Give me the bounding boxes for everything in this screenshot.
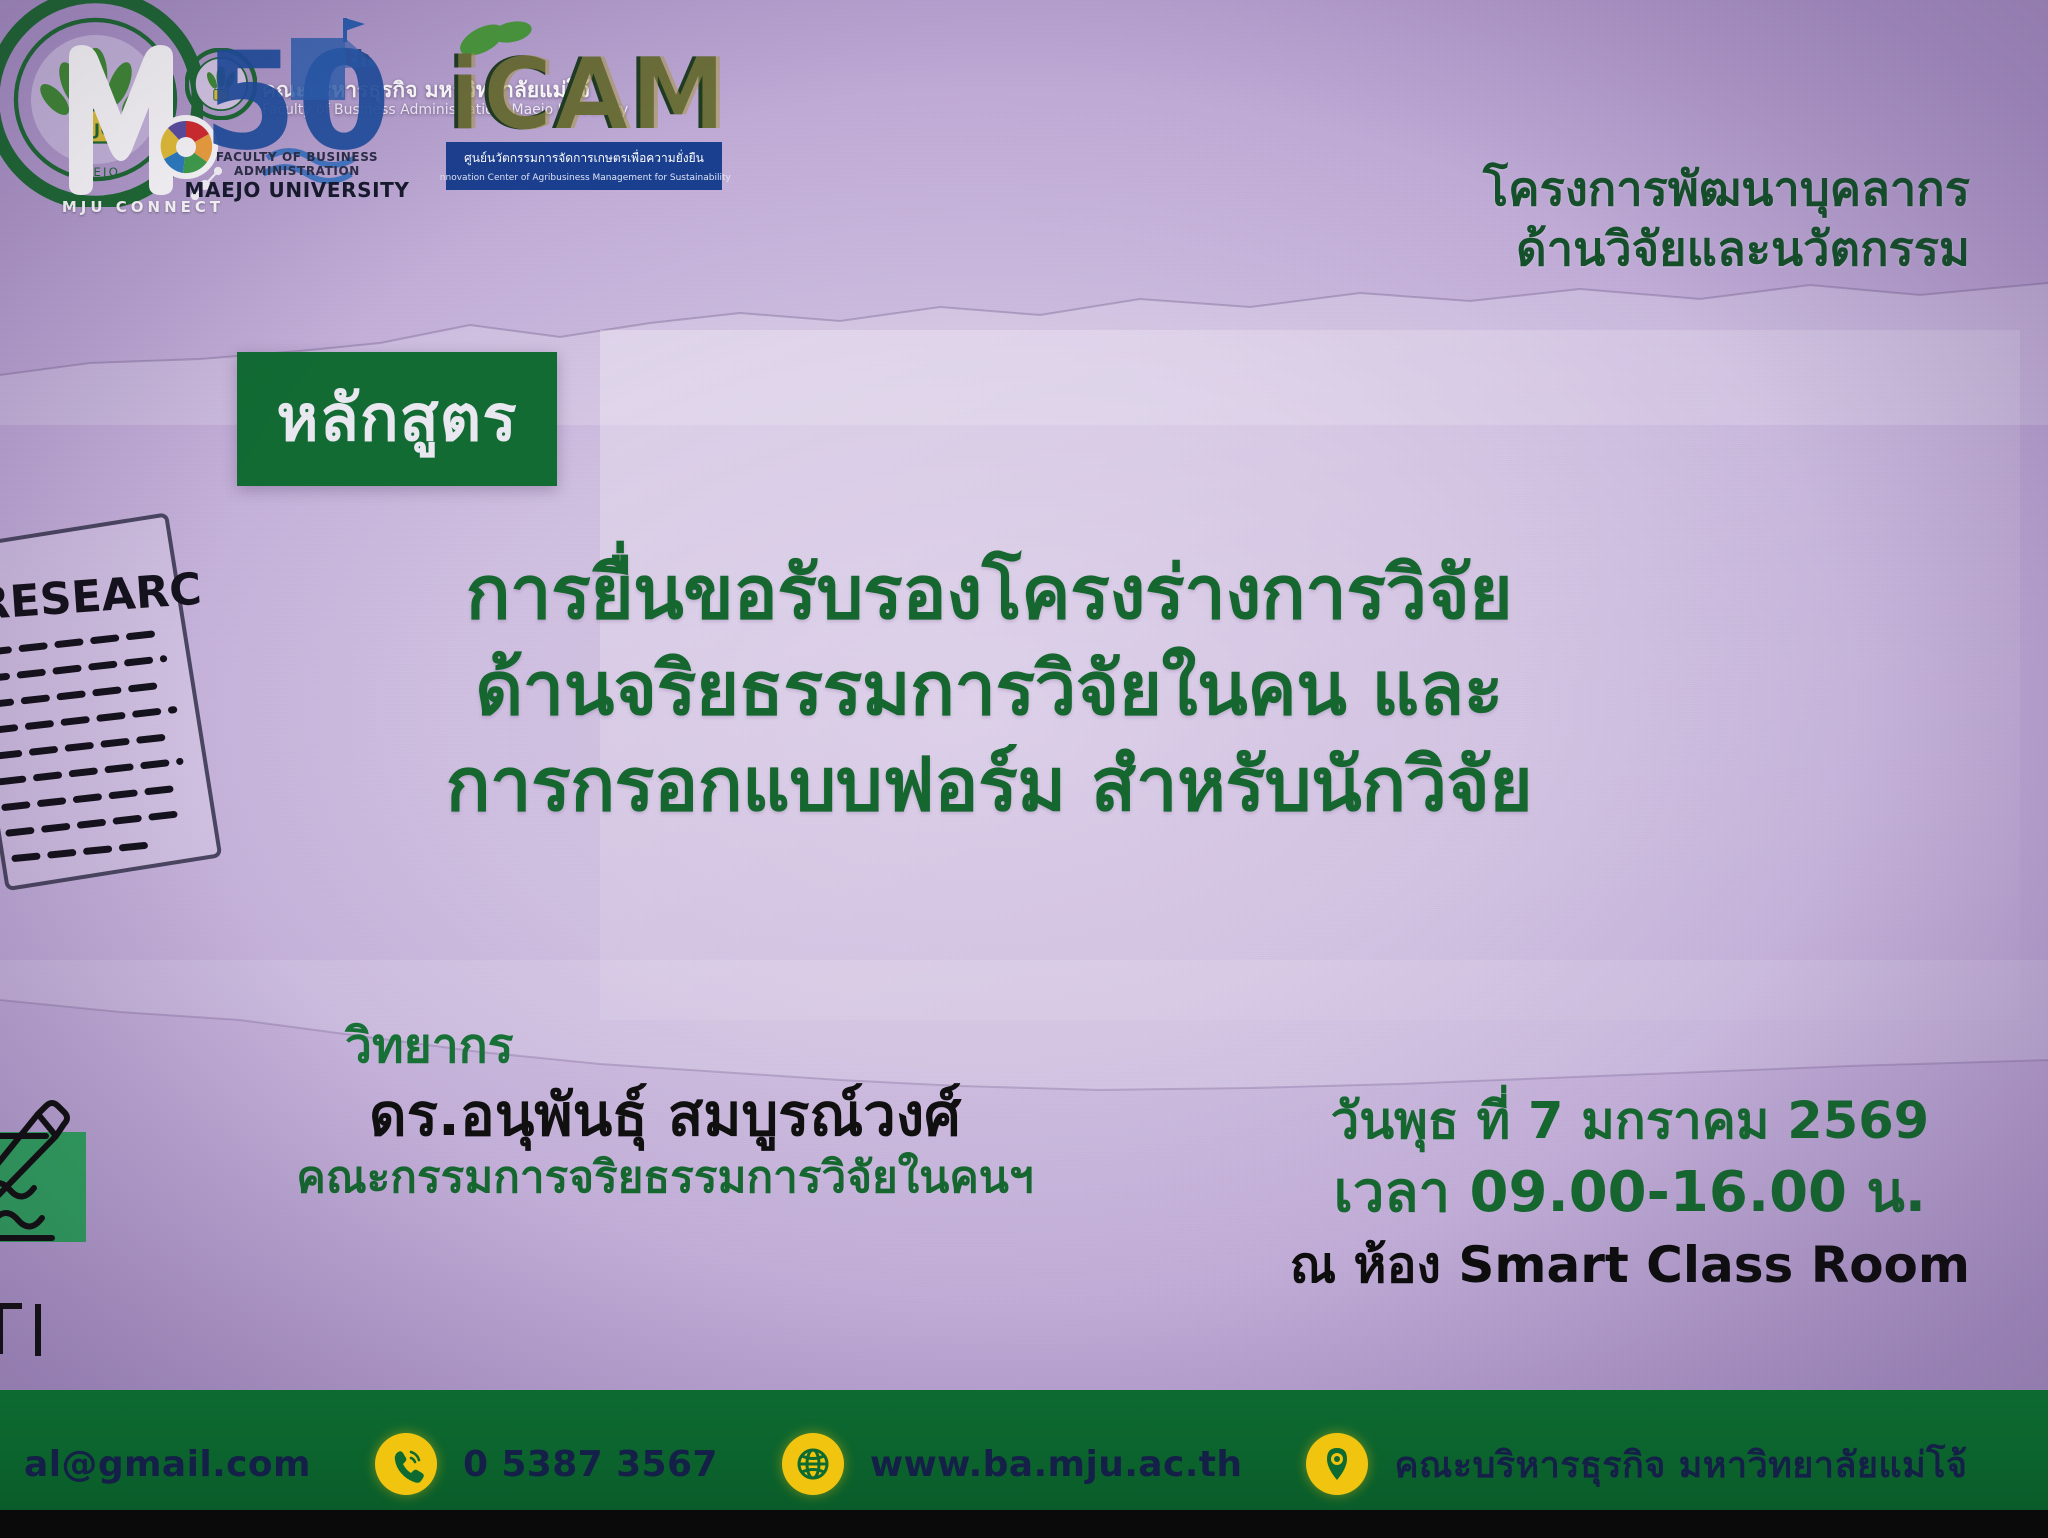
- fiftieth-caption-faculty: FACULTY OF BUSINESS ADMINISTRATION: [172, 150, 422, 178]
- speaker-block: วิทยากร ดร.อนุพันธุ์ สมบูรณ์วงศ์ คณะกรรม…: [215, 1020, 1115, 1205]
- fiftieth-caption-university: MAEJO UNIVERSITY: [172, 178, 422, 202]
- main-title-line3: การกรอกแบบฟอร์ม สำหรับนักวิจัย: [0, 737, 1978, 833]
- footer-email-text: al@gmail.com: [24, 1444, 311, 1485]
- footer-website-text: www.ba.mju.ac.th: [870, 1444, 1243, 1485]
- location-pin-icon: [1306, 1433, 1368, 1495]
- course-badge: หลักสูตร: [237, 352, 557, 486]
- phone-icon: [375, 1433, 437, 1495]
- footer-phone-text: 0 5387 3567: [463, 1444, 718, 1485]
- svg-text:iCAM: iCAM: [450, 38, 729, 152]
- icam-logo-icon: iCAM iCAM ศูนย์นวัตกรรมการจัดการเกษตรเพื…: [440, 10, 740, 200]
- program-header-line1: โครงการพัฒนาบุคลากร: [1483, 160, 1970, 220]
- notepad-with-pen-illustration: [0, 1080, 150, 1280]
- bracket-mark-illustration: [0, 1300, 54, 1360]
- main-title-line1: การยื่นขอรับรองโครงร่างการวิจัย: [0, 545, 1978, 641]
- speaker-name: ดร.อนุพันธุ์ สมบูรณ์วงศ์: [215, 1081, 1115, 1151]
- event-date: วันพุธ ที่ 7 มกราคม 2569: [1290, 1090, 1970, 1154]
- poster-canvas: MJU MAEJO MJU CONNECT: [0, 0, 2048, 1538]
- event-time: เวลา 09.00-16.00 น.: [1290, 1158, 1970, 1228]
- program-header: โครงการพัฒนาบุคลากร ด้านวิจัยและนวัตกรรม: [1483, 160, 1970, 280]
- footer-address-text: คณะบริหารธุรกิจ มหาวิทยาลัยแม่โจ้: [1394, 1436, 1967, 1493]
- speaker-affiliation: คณะกรรมการจริยธรรมการวิจัยในคนฯ: [215, 1152, 1115, 1205]
- main-title-line2: ด้านจริยธรรมการวิจัยในคน และ: [0, 641, 1978, 737]
- speaker-role-label: วิทยากร: [215, 1020, 1115, 1073]
- logo-row: MJU MAEJO MJU CONNECT: [0, 0, 820, 230]
- footer-black-strip: [0, 1510, 2048, 1538]
- globe-icon: [782, 1433, 844, 1495]
- event-details: วันพุธ ที่ 7 มกราคม 2569 เวลา 09.00-16.0…: [1290, 1090, 1970, 1296]
- svg-text:Innovation Center of Agribusin: Innovation Center of Agribusiness Manage…: [440, 173, 732, 183]
- svg-text:ศูนย์นวัตกรรมการจัดการเกษตรเพื: ศูนย์นวัตกรรมการจัดการเกษตรเพื่อความยั่ง…: [464, 149, 704, 166]
- course-badge-label: หลักสูตร: [276, 387, 517, 451]
- program-header-line2: ด้านวิจัยและนวัตกรรม: [1483, 220, 1970, 280]
- event-venue: ณ ห้อง Smart Class Room: [1290, 1234, 1970, 1297]
- main-title: การยื่นขอรับรองโครงร่างการวิจัย ด้านจริย…: [0, 545, 1978, 834]
- fiftieth-caption: FACULTY OF BUSINESS ADMINISTRATION MAEJO…: [172, 150, 422, 202]
